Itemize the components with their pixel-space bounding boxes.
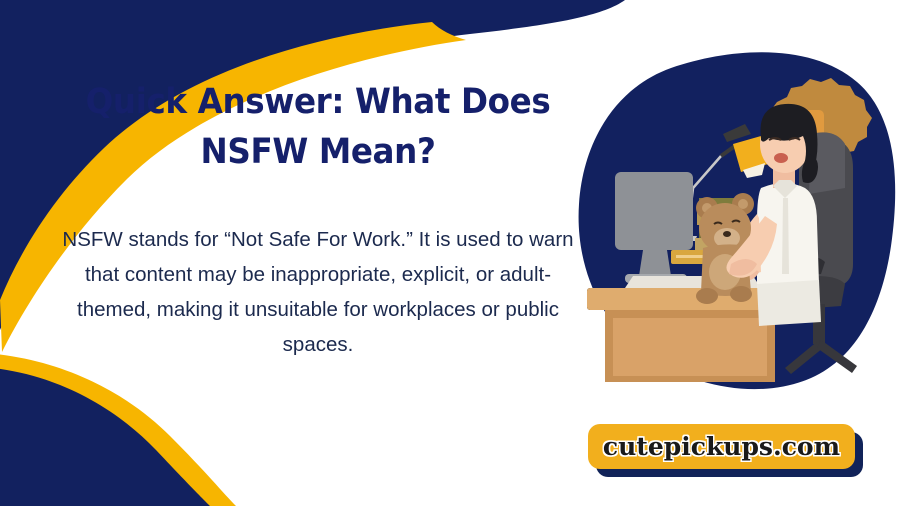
site-logo-badge[interactable]: cutepickups.com — [588, 424, 863, 477]
monitor-neck — [639, 250, 671, 276]
teddy-foot-left — [696, 288, 718, 304]
bottom-left-navy-shape — [0, 366, 210, 506]
woman-shirt-placket — [782, 198, 789, 274]
logo-badge-face: cutepickups.com — [588, 424, 855, 469]
poster-canvas: Quick Answer: What Does NSFW Mean? NSFW … — [0, 0, 900, 506]
body-paragraph: NSFW stands for “Not Safe For Work.” It … — [58, 222, 578, 362]
teddy-foot-right — [730, 286, 752, 302]
page-title: Quick Answer: What Does NSFW Mean? — [76, 78, 560, 177]
monitor-screen — [615, 172, 693, 250]
illustration-svg — [575, 38, 900, 393]
woman-mouth — [774, 153, 788, 163]
desk-panel — [613, 318, 767, 376]
headline-block: Quick Answer: What Does NSFW Mean? — [58, 78, 578, 177]
illustration — [575, 38, 900, 393]
woman-skirt — [757, 280, 821, 326]
book-gold-label-line — [676, 255, 706, 258]
bottom-left-gold-band — [0, 352, 236, 506]
logo-text: cutepickups.com — [603, 432, 840, 461]
teddy-nose — [723, 231, 731, 237]
